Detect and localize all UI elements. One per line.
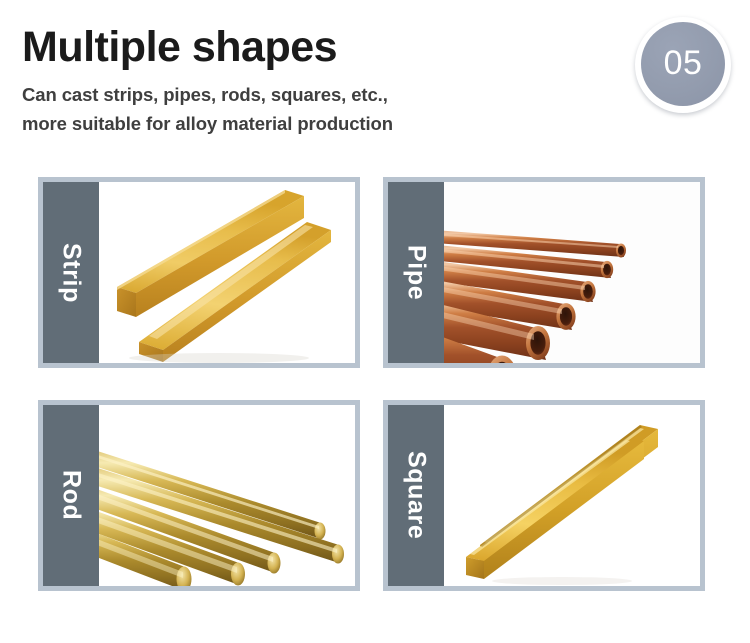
shape-card-pipe[interactable]: Pipe	[383, 177, 705, 368]
badge-circle: 05	[641, 22, 725, 106]
shape-card-rod[interactable]: Rod	[38, 400, 360, 591]
card-inner: Pipe	[388, 182, 700, 363]
step-number-badge: 05	[635, 17, 731, 113]
card-label-rod: Rod	[59, 470, 84, 520]
badge-number-label: 05	[664, 46, 703, 82]
subtitle: Can cast strips, pipes, rods, squares, e…	[22, 81, 622, 137]
shape-cards-grid: Strip	[38, 177, 710, 591]
shape-card-strip[interactable]: Strip	[38, 177, 360, 368]
card-label-pipe: Pipe	[404, 245, 429, 300]
brass-strip-bars-photo	[99, 182, 355, 363]
card-label-strip: Strip	[59, 243, 84, 303]
card-inner: Rod	[43, 405, 355, 586]
card-inner: Square	[388, 405, 700, 586]
card-label-square: Square	[404, 451, 429, 539]
slide-root: Multiple shapes Can cast strips, pipes, …	[0, 0, 750, 643]
card-label-bar-strip: Strip	[43, 182, 99, 363]
card-label-bar-square: Square	[388, 405, 444, 586]
card-label-bar-pipe: Pipe	[388, 182, 444, 363]
page-title: Multiple shapes	[22, 24, 622, 70]
card-label-bar-rod: Rod	[43, 405, 99, 586]
header: Multiple shapes Can cast strips, pipes, …	[22, 24, 622, 138]
brass-square-bars-photo	[444, 405, 700, 586]
subtitle-line-2: more suitable for alloy material product…	[22, 110, 622, 138]
subtitle-line-1: Can cast strips, pipes, rods, squares, e…	[22, 81, 622, 109]
card-inner: Strip	[43, 182, 355, 363]
shape-card-square[interactable]: Square	[383, 400, 705, 591]
